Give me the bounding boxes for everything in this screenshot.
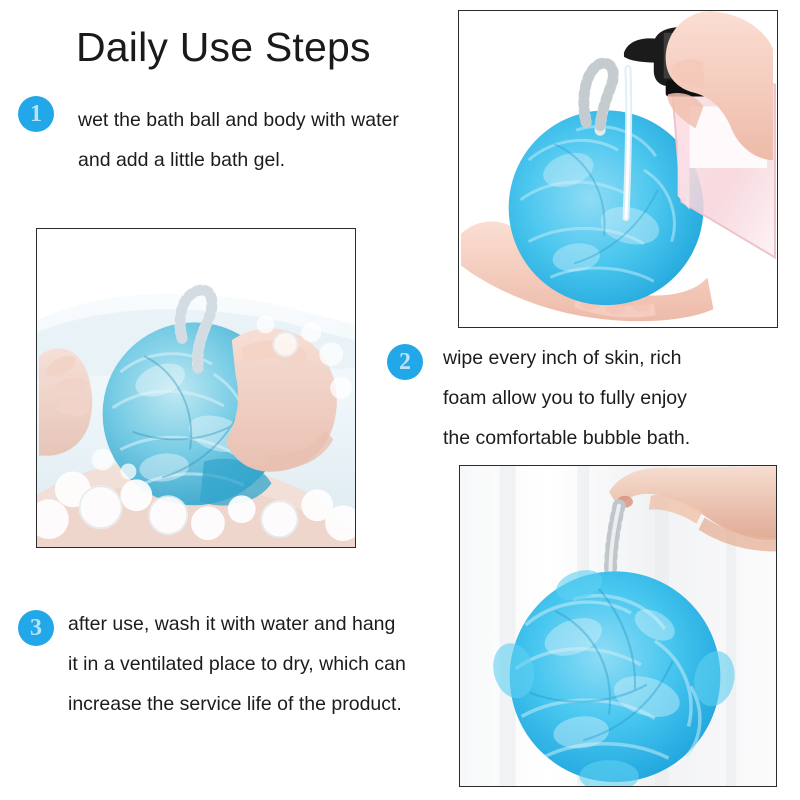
step-3-badge: 3 — [18, 610, 54, 646]
step-3-text: after use, wash it with water and hang i… — [68, 604, 458, 724]
infographic-canvas: Daily Use Steps — [0, 0, 800, 800]
photo-hang-to-dry — [459, 465, 777, 787]
step-2-text: wipe every inch of skin, rich foam allow… — [443, 338, 773, 458]
bath-pouf — [509, 110, 704, 305]
photo-scrub-with-foam — [36, 228, 356, 548]
photo-apply-bath-gel — [458, 10, 778, 328]
photo-hang-to-dry-illustration — [460, 466, 776, 786]
step-2-badge: 2 — [387, 344, 423, 380]
page-title: Daily Use Steps — [76, 24, 371, 71]
photo-scrub-with-foam-illustration — [37, 229, 355, 547]
photo-apply-bath-gel-illustration — [459, 11, 777, 327]
step-1-text: wet the bath ball and body with water an… — [78, 100, 458, 180]
step-1-badge: 1 — [18, 96, 54, 132]
